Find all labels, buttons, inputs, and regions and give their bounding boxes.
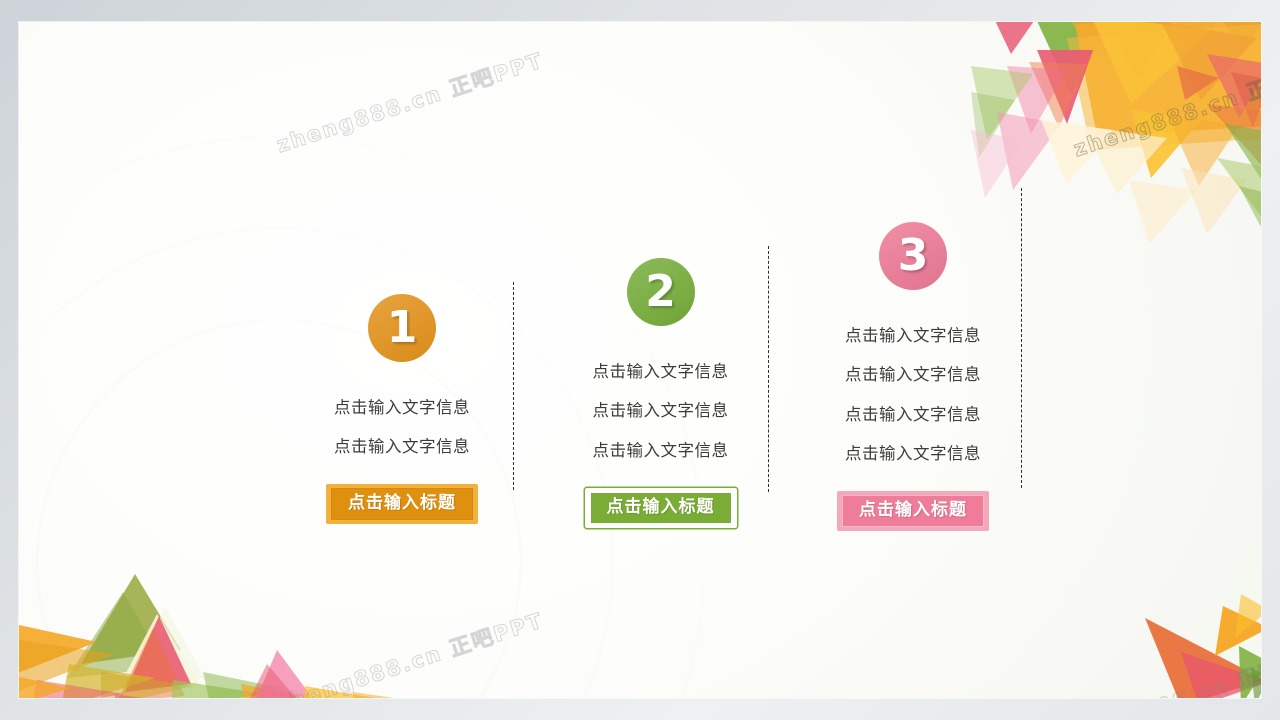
content-column-2: 2 点击输入文字信息 点击输入文字信息 点击输入文字信息 点击输入标题 (543, 258, 778, 528)
watermark-bottom-left: zheng888.cn 正吧PPT (272, 605, 547, 698)
number-badge-1: 1 (368, 294, 436, 362)
text-lines-1: 点击输入文字信息 点击输入文字信息 (287, 388, 517, 467)
title-button-3[interactable]: 点击输入标题 (837, 491, 989, 531)
text-line[interactable]: 点击输入文字信息 (797, 316, 1029, 356)
text-line[interactable]: 点击输入文字信息 (287, 388, 517, 428)
text-line[interactable]: 点击输入文字信息 (543, 431, 778, 471)
title-button-1[interactable]: 点击输入标题 (326, 484, 478, 524)
decorative-triangles-bottom-left (19, 568, 475, 698)
text-lines-2: 点击输入文字信息 点击输入文字信息 点击输入文字信息 (543, 352, 778, 471)
text-lines-3: 点击输入文字信息 点击输入文字信息 点击输入文字信息 点击输入文字信息 (797, 316, 1029, 474)
decorative-triangles-top-right (971, 22, 1261, 248)
text-line[interactable]: 点击输入文字信息 (797, 435, 1029, 475)
text-line[interactable]: 点击输入文字信息 (543, 352, 778, 392)
slide-canvas: zheng888.cn 正吧PPT zheng888.cn 正吧PPT zhen… (19, 22, 1261, 698)
title-button-label: 点击输入标题 (331, 488, 473, 520)
text-line[interactable]: 点击输入文字信息 (797, 395, 1029, 435)
title-button-label: 点击输入标题 (842, 495, 984, 527)
title-button-label: 点击输入标题 (590, 492, 732, 524)
watermark-bottom-right: zheng888.cn 正吧PPT (1059, 637, 1261, 698)
number-badge-2: 2 (627, 258, 695, 326)
title-button-2[interactable]: 点击输入标题 (585, 488, 737, 528)
text-line[interactable]: 点击输入文字信息 (543, 392, 778, 432)
text-line[interactable]: 点击输入文字信息 (287, 428, 517, 468)
watermark-top-right: zheng888.cn 正吧PPT (1069, 49, 1261, 164)
content-column-1: 1 点击输入文字信息 点击输入文字信息 点击输入标题 (287, 294, 517, 524)
text-line[interactable]: 点击输入文字信息 (797, 356, 1029, 396)
watermark-top-left: zheng888.cn 正吧PPT (272, 45, 547, 160)
content-column-3: 3 点击输入文字信息 点击输入文字信息 点击输入文字信息 点击输入文字信息 点击… (797, 222, 1029, 531)
decorative-triangles-bottom-right (1089, 576, 1261, 698)
number-badge-3: 3 (879, 222, 947, 290)
